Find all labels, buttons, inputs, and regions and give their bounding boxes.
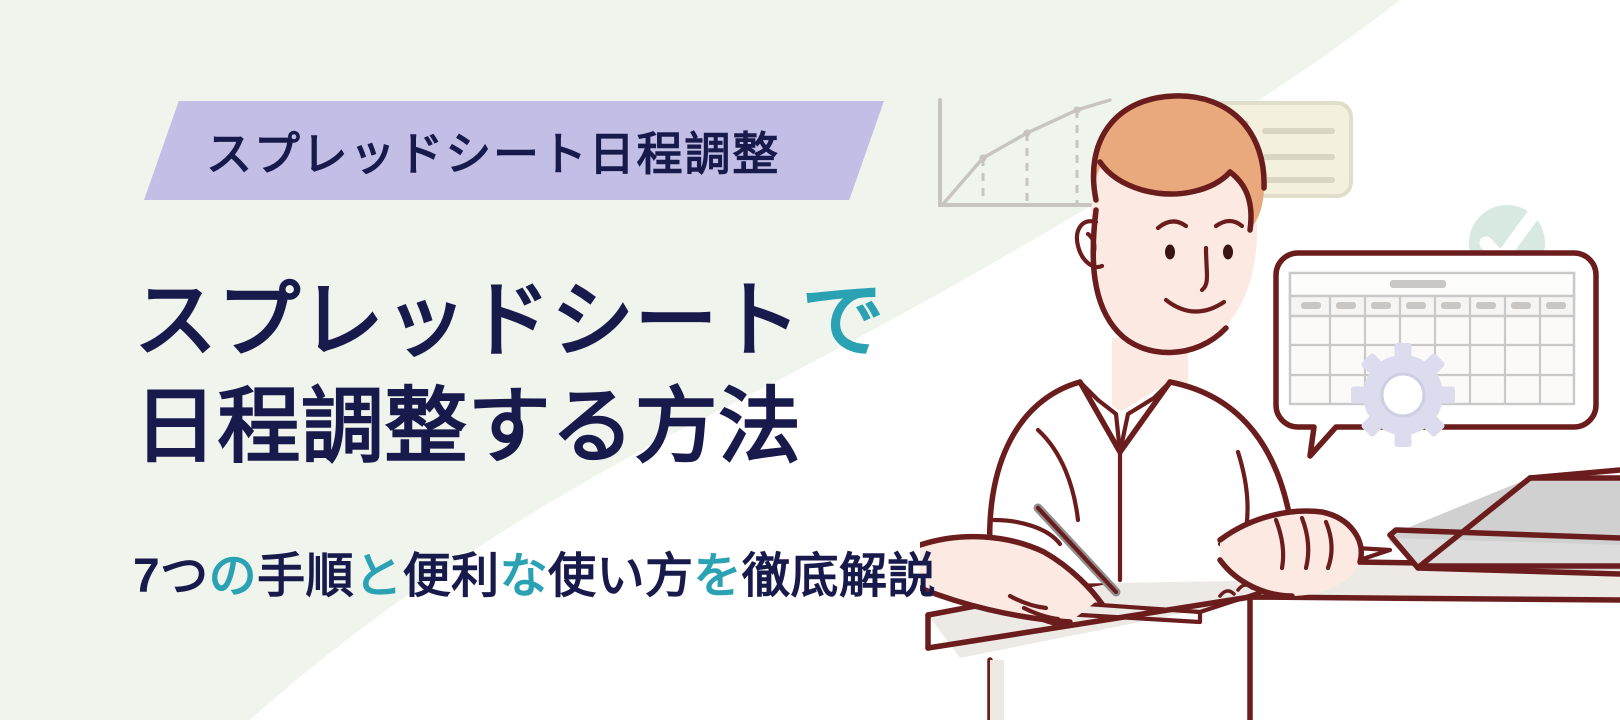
subtitle-seg-2: 手順	[257, 550, 354, 603]
subtitle-seg-4: 便利	[403, 550, 500, 603]
headline-line-1: スプレッドシートで	[134, 268, 885, 374]
subtitle-seg-7: を	[694, 550, 742, 603]
laptop-icon	[1388, 470, 1620, 574]
text-column: スプレッドシート日程調整 スプレッドシートで 日程調整する方法 7つの手順と便利…	[0, 0, 1060, 720]
subtitle-seg-8: 徹底解説	[742, 550, 936, 603]
headline-line-1-main: スプレッドシート	[134, 274, 801, 367]
headline-line-1-accent: で	[801, 274, 884, 367]
subtitle-seg-0: 7つ	[133, 550, 209, 603]
subtitle-seg-5: な	[500, 550, 548, 603]
category-badge: スプレッドシート日程調整	[144, 101, 884, 200]
page-title: スプレッドシートで 日程調整する方法	[134, 268, 885, 480]
subtitle-seg-6: 使い方	[548, 550, 693, 603]
subtitle-seg-1: の	[209, 550, 257, 603]
hero-banner: スプレッドシート日程調整 スプレッドシートで 日程調整する方法 7つの手順と便利…	[0, 0, 1620, 720]
subtitle-seg-3: と	[354, 550, 402, 603]
gear-icon	[1351, 343, 1455, 447]
page-subtitle: 7つの手順と便利な使い方を徹底解説	[133, 536, 936, 606]
headline-line-2: 日程調整する方法	[134, 374, 885, 480]
